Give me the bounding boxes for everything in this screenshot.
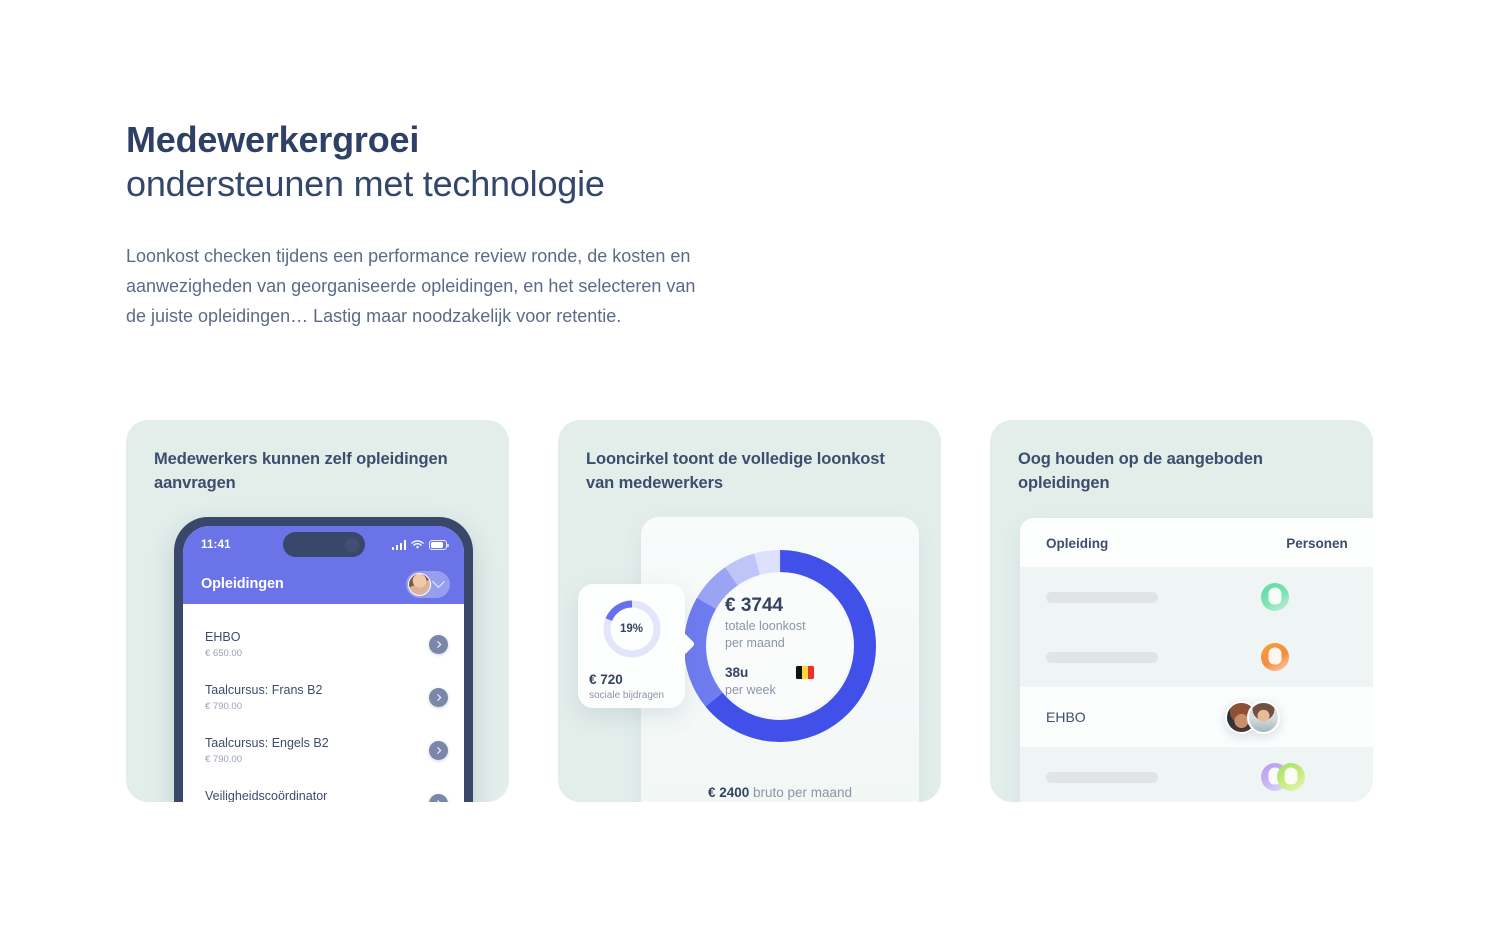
total-amount: € 3744 (725, 594, 851, 618)
avatar (408, 573, 431, 596)
status-bar: 11:41 (183, 526, 464, 564)
phone-mockup: 11:41 (174, 517, 473, 802)
status-time: 11:41 (201, 539, 231, 551)
hero-section: Medewerkergroei ondersteunen met technol… (126, 118, 826, 331)
course-price: € 790.00 (205, 753, 329, 766)
list-item[interactable]: Taalcursus: Engels B2 € 790.00 (183, 724, 464, 777)
chevron-right-icon[interactable] (429, 688, 448, 707)
table-row[interactable] (1020, 627, 1373, 687)
app-bar: Opleidingen (183, 564, 464, 604)
front-camera-icon (345, 538, 359, 552)
list-item[interactable]: Veiligheidscoördinator € 1250.00 (183, 777, 464, 802)
chevron-down-icon (432, 575, 445, 588)
list-item[interactable]: Taalcursus: Frans B2 € 790.00 (183, 671, 464, 724)
course-name: Veiligheidscoördinator (205, 788, 327, 802)
chevron-right-icon[interactable] (429, 741, 448, 760)
trainings-table: Opleiding Personen (1020, 518, 1373, 802)
table-row[interactable] (1020, 747, 1373, 802)
course-price: € 650.00 (205, 647, 242, 660)
hours-label: per week (725, 682, 776, 699)
avatar (1277, 763, 1305, 791)
placeholder-bar (1046, 772, 1158, 783)
phone-top-bar: 11:41 (183, 526, 464, 604)
feature-card-salary-circle: Looncirkel toont de volledige loonkost v… (558, 420, 941, 802)
page-title-light: ondersteunen met technologie (126, 162, 826, 206)
hours-row: 38u per week (725, 664, 851, 699)
total-label-line1: totale loonkost (725, 618, 851, 635)
course-list: EHBO € 650.00 Taalcursus: Frans B2 € 790… (183, 604, 464, 802)
avatar (1261, 583, 1289, 611)
table-header: Opleiding Personen (1020, 518, 1373, 567)
column-header-opleiding: Opleiding (1046, 536, 1108, 551)
avatar-group (1225, 701, 1280, 734)
placeholder-bar (1046, 652, 1158, 663)
app-bar-title: Opleidingen (201, 576, 284, 592)
status-icons (392, 540, 448, 550)
avatar (1261, 643, 1289, 671)
page-root: Medewerkergroei ondersteunen met technol… (0, 0, 1500, 932)
table-row[interactable]: EHBO (1020, 687, 1373, 747)
page-title-strong: Medewerkergroei (126, 118, 826, 162)
feature-cards: Medewerkers kunnen zelf opleidingen aanv… (0, 420, 1500, 820)
list-item[interactable]: EHBO € 650.00 (183, 618, 464, 671)
social-contributions-percent: 19% (612, 609, 652, 649)
social-contributions-amount: € 720 (589, 671, 674, 688)
gross-amount: € 2400 (708, 785, 749, 800)
dynamic-island (283, 532, 365, 557)
social-contributions-label: sociale bijdragen (589, 689, 674, 703)
hours-value: 38u (725, 664, 776, 682)
account-menu-button[interactable] (406, 571, 450, 598)
wifi-icon (411, 540, 424, 550)
avatar (1247, 701, 1280, 734)
gross-label: bruto per maand (753, 785, 852, 800)
table-row[interactable] (1020, 567, 1373, 627)
course-name: Taalcursus: Engels B2 (205, 735, 329, 751)
card-title: Looncirkel toont de volledige loonkost v… (586, 447, 915, 495)
chevron-right-icon[interactable] (429, 794, 448, 802)
phone-screen: 11:41 (183, 526, 464, 802)
feature-card-self-service: Medewerkers kunnen zelf opleidingen aanv… (126, 420, 509, 802)
training-name: EHBO (1046, 709, 1086, 725)
column-header-personen: Personen (1286, 536, 1348, 551)
feature-card-training-overview: Oog houden op de aangeboden opleidingen … (990, 420, 1373, 802)
avatar-group (1261, 583, 1289, 611)
card-title: Oog houden op de aangeboden opleidingen (1018, 447, 1347, 495)
avatar-group (1261, 763, 1305, 791)
chevron-right-icon[interactable] (429, 635, 448, 654)
gross-footer: € 2400 bruto per maand (641, 785, 919, 800)
avatar-group (1261, 643, 1289, 671)
hero-description: Loonkost checken tijdens een performance… (126, 241, 706, 331)
social-contributions-callout: 19% € 720 sociale bijdragen (578, 584, 685, 708)
course-name: EHBO (205, 629, 242, 645)
card-title: Medewerkers kunnen zelf opleidingen aanv… (154, 447, 483, 495)
course-price: € 790.00 (205, 700, 322, 713)
salary-donut-chart: € 3744 totale loonkost per maand 38u per… (680, 546, 880, 746)
course-name: Taalcursus: Frans B2 (205, 682, 322, 698)
total-label-line2: per maand (725, 635, 851, 652)
page-title: Medewerkergroei ondersteunen met technol… (126, 118, 826, 206)
social-contributions-donut: 19% (601, 598, 663, 660)
be-flag-icon (796, 666, 814, 679)
placeholder-bar (1046, 592, 1158, 603)
donut-center-labels: € 3744 totale loonkost per maand 38u per… (709, 575, 851, 717)
battery-icon (429, 540, 447, 550)
cellular-signal-icon (392, 540, 407, 550)
